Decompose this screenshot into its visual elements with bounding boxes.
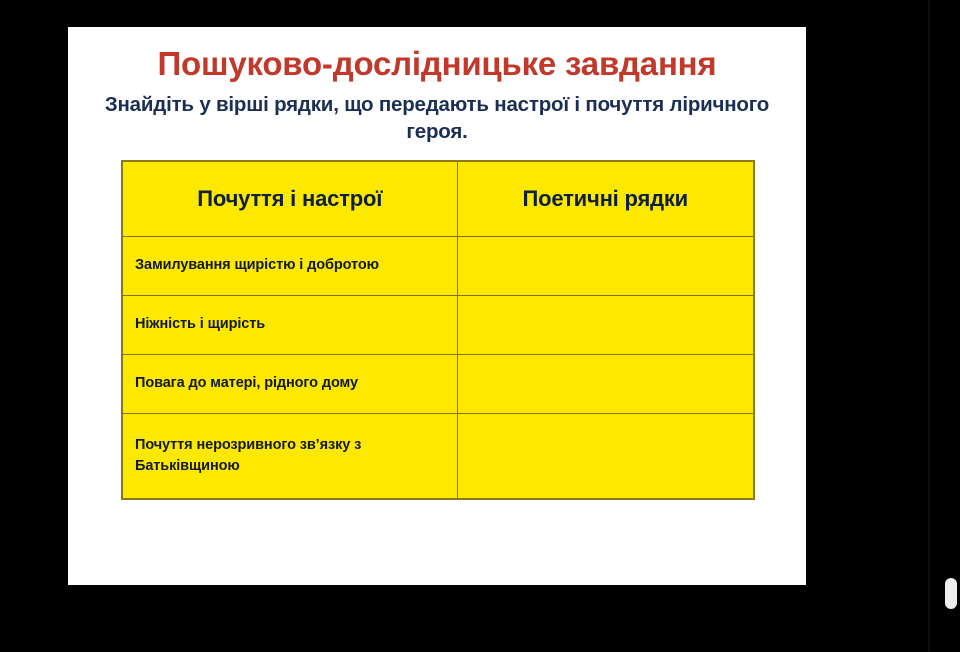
task-table-container: Почуття і настрої Поетичні рядки Замилув… bbox=[121, 160, 753, 500]
slide-subtitle: Знайдіть у вірші рядки, що передають нас… bbox=[68, 91, 806, 146]
cell-poetic-lines[interactable] bbox=[457, 236, 754, 295]
table-row: Ніжність і щирість bbox=[122, 295, 754, 354]
cell-poetic-lines[interactable] bbox=[457, 354, 754, 413]
viewer-right-seam bbox=[928, 0, 930, 652]
slide-panel: Пошуково-дослідницьке завдання Знайдіть … bbox=[68, 27, 806, 585]
table-header-row: Почуття і настрої Поетичні рядки bbox=[122, 161, 754, 237]
cell-poetic-lines[interactable] bbox=[457, 413, 754, 499]
cell-feeling: Повага до матері, рідного дому bbox=[122, 354, 457, 413]
table-row: Повага до матері, рідного дому bbox=[122, 354, 754, 413]
table-body: Замилування щирістю і добротою Ніжність … bbox=[122, 236, 754, 499]
scrollbar-thumb[interactable] bbox=[945, 578, 957, 609]
table-header: Почуття і настрої Поетичні рядки bbox=[122, 161, 754, 237]
cell-poetic-lines[interactable] bbox=[457, 295, 754, 354]
page-title: Пошуково-дослідницьке завдання bbox=[68, 27, 806, 85]
table-row: Почуття нерозривного зв’язку з Батьківщи… bbox=[122, 413, 754, 499]
cell-feeling: Почуття нерозривного зв’язку з Батьківщи… bbox=[122, 413, 457, 499]
column-header-feelings: Почуття і настрої bbox=[122, 161, 457, 237]
column-header-poetic-lines: Поетичні рядки bbox=[457, 161, 754, 237]
cell-feeling: Ніжність і щирість bbox=[122, 295, 457, 354]
cell-feeling: Замилування щирістю і добротою bbox=[122, 236, 457, 295]
task-table: Почуття і настрої Поетичні рядки Замилув… bbox=[121, 160, 755, 500]
table-row: Замилування щирістю і добротою bbox=[122, 236, 754, 295]
